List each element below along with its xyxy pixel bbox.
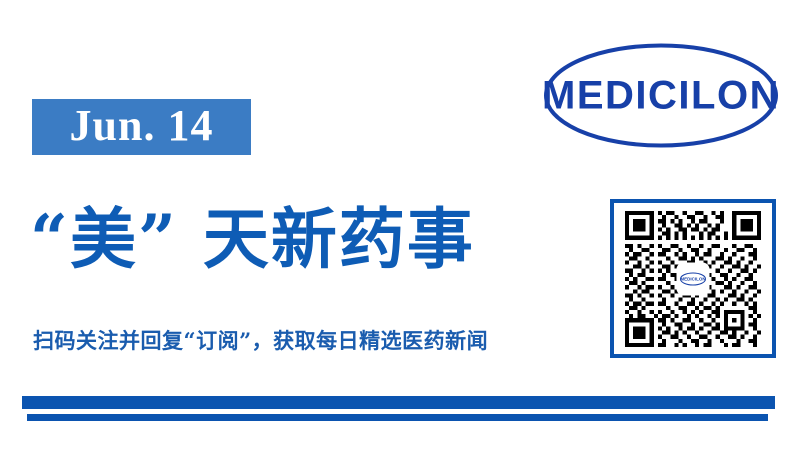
logo-wordmark-text: MEDICILON [543, 74, 779, 118]
bottom-rule-thick [22, 396, 775, 409]
date-badge: Jun. 14 [32, 99, 251, 155]
qr-code-image[interactable]: MEDICILON [625, 211, 761, 347]
qr-center-logo: MEDICILON [677, 263, 710, 296]
headline-text: “美” 天新药事 [30, 205, 475, 274]
qr-code-frame[interactable]: MEDICILON [610, 199, 776, 358]
subtitle-text: 扫码关注并回复“订阅”，获取每日精选医药新闻 [33, 328, 488, 353]
qr-logo-wordmark-text: MEDICILON [680, 277, 705, 282]
bottom-rule-thin [27, 414, 768, 421]
subtitle: 扫码关注并回复“订阅”，获取每日精选医药新闻 [33, 325, 593, 357]
date-badge-label: Jun. 14 [70, 104, 214, 151]
medicilon-logo: MEDICILON [543, 42, 779, 149]
headline: “美” 天新药事 [30, 188, 590, 292]
news-banner: Jun. 14 MEDICILON “美” 天新药事 扫码关注并回复“订阅”，获… [0, 0, 800, 468]
